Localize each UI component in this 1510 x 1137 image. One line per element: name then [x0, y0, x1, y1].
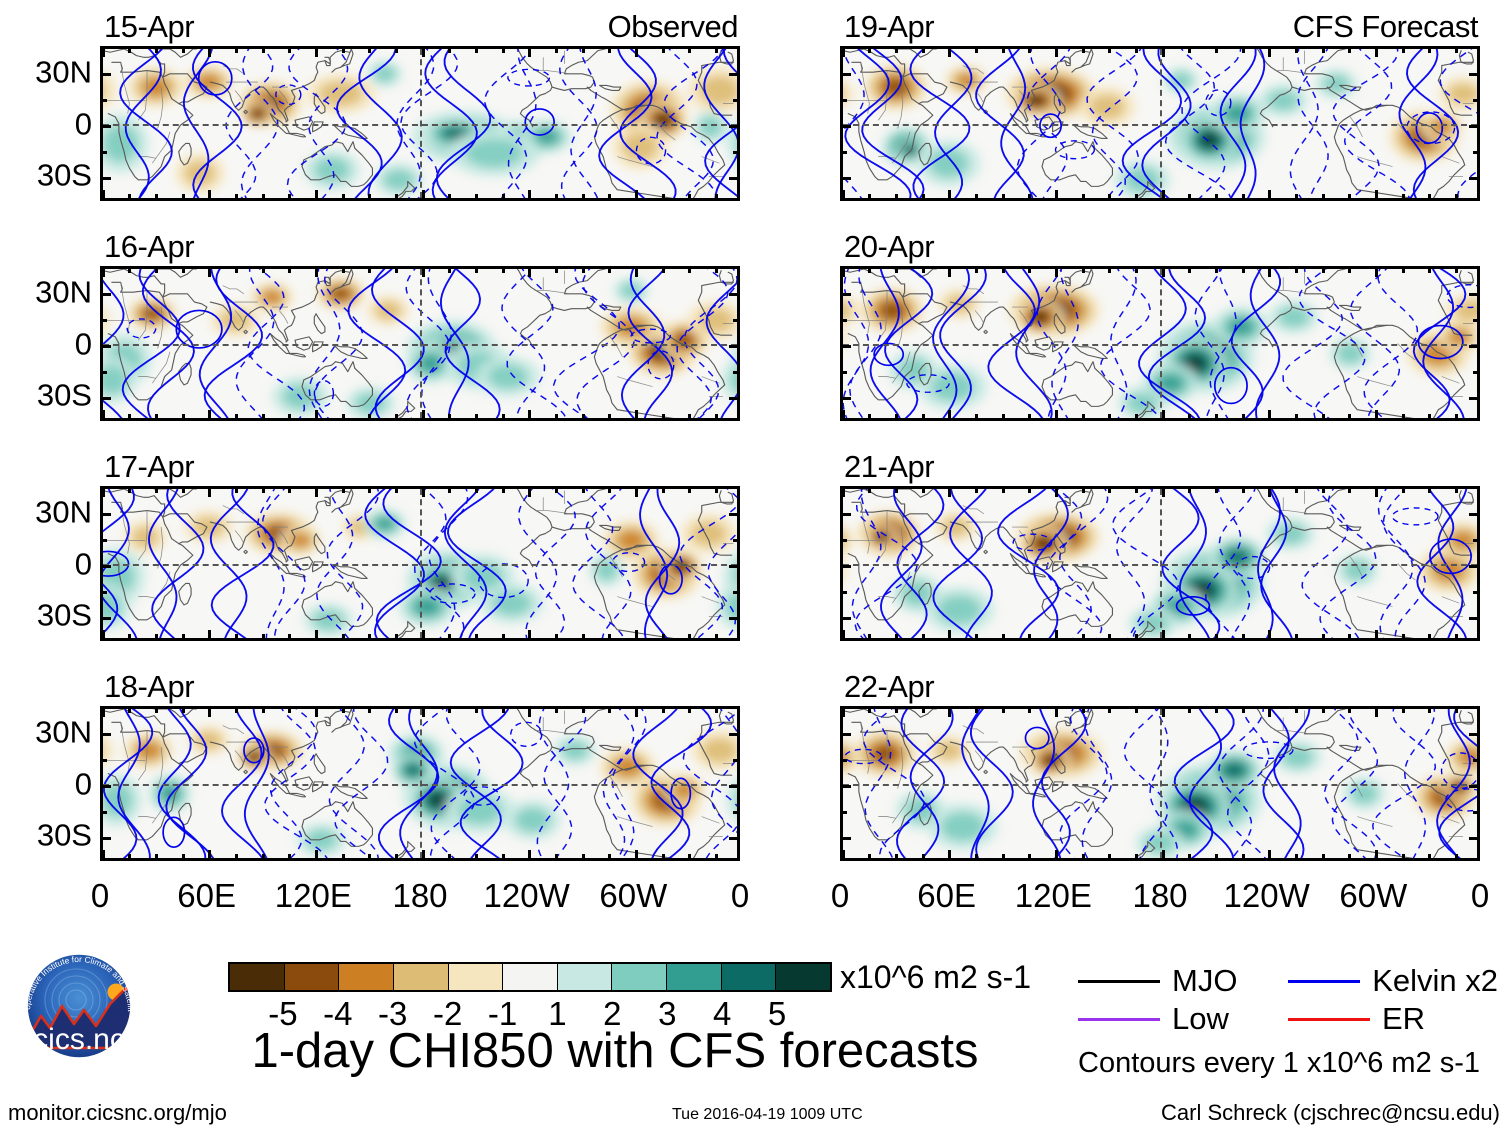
- tick-mark: [1469, 513, 1478, 516]
- tick-mark: [842, 837, 851, 840]
- y-ticks-left: [842, 269, 851, 418]
- tick-mark: [128, 48, 131, 53]
- tick-mark: [1108, 488, 1111, 493]
- tick-mark: [1428, 268, 1431, 273]
- tick-mark: [448, 708, 451, 713]
- tick-mark: [715, 488, 718, 493]
- tick-mark: [733, 99, 738, 102]
- x-axis-tick-label: 180: [1132, 875, 1187, 917]
- tick-mark: [1473, 99, 1478, 102]
- tick-mark: [448, 414, 451, 419]
- tick-mark: [868, 268, 871, 273]
- tick-mark: [688, 488, 691, 493]
- x-axis-tick-label: 60W: [1339, 875, 1407, 917]
- tick-mark: [422, 410, 425, 419]
- tick-mark: [182, 268, 185, 273]
- tick-mark: [342, 194, 345, 199]
- panel-date-label: 19-Apr: [844, 8, 934, 46]
- tick-mark: [729, 125, 738, 128]
- tick-mark: [895, 708, 898, 713]
- tick-mark: [729, 837, 738, 840]
- x-axis-tick-label: 0: [91, 875, 109, 917]
- tick-mark: [733, 371, 738, 374]
- tick-mark: [262, 634, 265, 639]
- x-ticks-bottom: [103, 410, 737, 419]
- tick-mark: [842, 565, 851, 568]
- x-axis-labels: 060E120E180120W60W0: [100, 875, 740, 917]
- panel-grid: 15-AprObserved 30N030S16-Apr 30N030S17-A…: [0, 0, 1510, 920]
- tick-mark: [582, 268, 585, 273]
- tick-mark: [1082, 854, 1085, 859]
- tick-mark: [1428, 634, 1431, 639]
- y-ticks-right: [729, 49, 738, 198]
- tick-mark: [1348, 854, 1351, 859]
- tick-mark: [102, 759, 107, 762]
- tick-mark: [1028, 414, 1031, 419]
- tick-mark: [975, 414, 978, 419]
- tick-mark: [102, 319, 107, 322]
- tick-mark: [729, 177, 738, 180]
- tick-mark: [729, 73, 738, 76]
- tick-mark: [1455, 194, 1458, 199]
- colorbar-segment-2: [339, 964, 394, 990]
- panel-date-label: 18-Apr: [104, 668, 194, 706]
- tick-mark: [1375, 190, 1378, 199]
- tick-mark: [1473, 759, 1478, 762]
- tick-mark: [1268, 48, 1271, 57]
- legend-item-mjo: MJO: [1078, 964, 1288, 998]
- tick-mark: [102, 397, 111, 400]
- tick-mark: [102, 99, 107, 102]
- tick-mark: [235, 634, 238, 639]
- footer-author: Carl Schreck (cjschrec@ncsu.edu): [1161, 1098, 1500, 1128]
- tick-mark: [422, 48, 425, 57]
- tick-mark: [528, 48, 531, 57]
- tick-mark: [1162, 630, 1165, 639]
- x-axis-tick-label: 120W: [1224, 875, 1310, 917]
- tick-mark: [733, 151, 738, 154]
- tick-mark: [1188, 708, 1191, 713]
- map-plot-area: [840, 46, 1480, 201]
- tick-mark: [128, 488, 131, 493]
- dateline-guide-line: [1160, 269, 1162, 418]
- y-axis-tick-label: 0: [75, 328, 92, 359]
- y-axis-labels: 30N030S: [4, 46, 92, 201]
- figure-title: 1-day CHI850 with CFS forecasts: [215, 1022, 1015, 1080]
- tick-mark: [1028, 194, 1031, 199]
- tick-mark: [733, 591, 738, 594]
- colorbar: [228, 962, 832, 992]
- legend-label: ER: [1382, 1002, 1425, 1036]
- y-ticks-left: [842, 49, 851, 198]
- tick-mark: [842, 539, 847, 542]
- tick-mark: [182, 488, 185, 493]
- tick-mark: [868, 854, 871, 859]
- tick-mark: [729, 397, 738, 400]
- tick-mark: [922, 488, 925, 493]
- tick-mark: [662, 268, 665, 273]
- y-ticks-right: [1469, 709, 1478, 858]
- tick-mark: [1455, 268, 1458, 273]
- tick-mark: [1469, 397, 1478, 400]
- tick-mark: [842, 733, 851, 736]
- tick-mark: [1002, 708, 1005, 713]
- tick-mark: [922, 194, 925, 199]
- tick-mark: [1455, 854, 1458, 859]
- tick-mark: [422, 630, 425, 639]
- tick-mark: [102, 565, 111, 568]
- tick-mark: [315, 268, 318, 277]
- tick-mark: [582, 634, 585, 639]
- tick-mark: [502, 634, 505, 639]
- tick-mark: [1268, 410, 1271, 419]
- tick-mark: [1375, 850, 1378, 859]
- tick-mark: [975, 854, 978, 859]
- tick-mark: [208, 268, 211, 277]
- dateline-guide-line: [420, 489, 422, 638]
- tick-mark: [368, 414, 371, 419]
- tick-mark: [1108, 194, 1111, 199]
- x-axis-tick-label: 0: [731, 875, 749, 917]
- panel-date-label: 16-Apr: [104, 228, 194, 266]
- tick-mark: [1082, 268, 1085, 273]
- tick-mark: [1135, 414, 1138, 419]
- map-plot-area: [840, 706, 1480, 861]
- map-panel-16-apr: 16-Apr: [100, 228, 740, 421]
- tick-mark: [315, 190, 318, 199]
- tick-mark: [102, 837, 111, 840]
- y-axis-tick-label: 30N: [35, 276, 92, 307]
- y-ticks-left: [842, 709, 851, 858]
- tick-mark: [182, 194, 185, 199]
- tick-mark: [342, 414, 345, 419]
- tick-mark: [155, 634, 158, 639]
- tick-mark: [1215, 48, 1218, 53]
- tick-mark: [1188, 854, 1191, 859]
- panel-date-label: 22-Apr: [844, 668, 934, 706]
- tick-mark: [842, 151, 847, 154]
- tick-mark: [235, 854, 238, 859]
- tick-mark: [895, 268, 898, 273]
- colorbar-segment-7: [612, 964, 667, 990]
- footer-url[interactable]: monitor.cicsnc.org/mjo: [8, 1098, 227, 1128]
- legend-label: MJO: [1172, 964, 1237, 998]
- tick-mark: [1469, 733, 1478, 736]
- tick-mark: [1108, 854, 1111, 859]
- y-axis-labels: 30N030S: [4, 266, 92, 421]
- logo-wordmark: cics.nc: [33, 1023, 125, 1056]
- legend-label: Kelvin x2: [1372, 964, 1498, 998]
- tick-mark: [342, 854, 345, 859]
- tick-mark: [1135, 194, 1138, 199]
- x-ticks-top: [843, 48, 1477, 57]
- tick-mark: [1135, 854, 1138, 859]
- tick-mark: [555, 634, 558, 639]
- legend-item-kelvin: Kelvin x2: [1288, 964, 1498, 998]
- x-ticks-top: [843, 708, 1477, 717]
- footer: monitor.cicsnc.org/mjo Tue 2016-04-19 10…: [0, 1098, 1510, 1132]
- tick-mark: [528, 708, 531, 717]
- tick-mark: [182, 414, 185, 419]
- tick-mark: [1455, 488, 1458, 493]
- tick-mark: [1082, 488, 1085, 493]
- tick-mark: [662, 708, 665, 713]
- legend-item-er: ER: [1288, 1002, 1498, 1036]
- tick-mark: [948, 630, 951, 639]
- tick-mark: [422, 488, 425, 497]
- tick-mark: [1055, 708, 1058, 717]
- tick-mark: [395, 48, 398, 53]
- panel-date-label: 15-Apr: [104, 8, 194, 46]
- tick-mark: [1469, 785, 1478, 788]
- tick-mark: [1268, 190, 1271, 199]
- tick-mark: [102, 513, 111, 516]
- map-field: [843, 269, 1477, 418]
- tick-mark: [1322, 268, 1325, 273]
- colorbar-segment-5: [503, 964, 558, 990]
- x-axis-tick-label: 60E: [177, 875, 236, 917]
- tick-mark: [288, 854, 291, 859]
- tick-mark: [715, 48, 718, 53]
- tick-mark: [1402, 414, 1405, 419]
- tick-mark: [1108, 634, 1111, 639]
- tick-mark: [975, 48, 978, 53]
- tick-mark: [842, 513, 851, 516]
- y-ticks-left: [102, 269, 111, 418]
- tick-mark: [102, 151, 107, 154]
- mjo-line-swatch: [1078, 980, 1160, 983]
- x-axis-tick-label: 120E: [275, 875, 352, 917]
- dateline-guide-line: [1160, 709, 1162, 858]
- tick-mark: [895, 634, 898, 639]
- tick-mark: [1295, 268, 1298, 273]
- tick-mark: [448, 194, 451, 199]
- tick-mark: [1295, 634, 1298, 639]
- legend-row: Low ER: [1078, 1000, 1498, 1038]
- y-ticks-right: [1469, 489, 1478, 638]
- tick-mark: [1002, 48, 1005, 53]
- tick-mark: [582, 488, 585, 493]
- panel-date-label: 17-Apr: [104, 448, 194, 486]
- tick-mark: [1295, 414, 1298, 419]
- tick-mark: [688, 708, 691, 713]
- tick-mark: [582, 414, 585, 419]
- tick-mark: [1108, 268, 1111, 273]
- y-axis-tick-label: 30S: [37, 600, 92, 631]
- tick-mark: [208, 850, 211, 859]
- tick-mark: [662, 194, 665, 199]
- legend-label: Low: [1172, 1002, 1229, 1036]
- tick-mark: [1455, 708, 1458, 713]
- tick-mark: [555, 194, 558, 199]
- tick-mark: [635, 708, 638, 717]
- x-axis-labels: 060E120E180120W60W0: [840, 875, 1480, 917]
- tick-mark: [729, 565, 738, 568]
- y-axis-tick-label: 30S: [37, 380, 92, 411]
- tick-mark: [1428, 854, 1431, 859]
- tick-mark: [555, 48, 558, 53]
- tick-mark: [1215, 488, 1218, 493]
- tick-mark: [315, 708, 318, 717]
- tick-mark: [475, 488, 478, 493]
- tick-mark: [1402, 708, 1405, 713]
- tick-mark: [395, 854, 398, 859]
- tick-mark: [235, 268, 238, 273]
- tick-mark: [582, 48, 585, 53]
- tick-mark: [608, 634, 611, 639]
- tick-mark: [1455, 48, 1458, 53]
- tick-mark: [975, 488, 978, 493]
- tick-mark: [182, 634, 185, 639]
- tick-mark: [528, 630, 531, 639]
- colorbar-segment-10: [776, 964, 830, 990]
- tick-mark: [1402, 194, 1405, 199]
- tick-mark: [1002, 854, 1005, 859]
- tick-mark: [948, 268, 951, 277]
- tick-mark: [288, 414, 291, 419]
- map-field: [103, 489, 737, 638]
- tick-mark: [315, 850, 318, 859]
- tick-mark: [288, 634, 291, 639]
- cics-nc-logo: Cooperative Institute for Climate and Sa…: [14, 948, 164, 1066]
- y-ticks-right: [729, 709, 738, 858]
- map-field: [843, 489, 1477, 638]
- x-ticks-bottom: [103, 630, 737, 639]
- tick-mark: [1428, 488, 1431, 493]
- y-ticks-left: [102, 489, 111, 638]
- tick-mark: [688, 634, 691, 639]
- tick-mark: [475, 854, 478, 859]
- tick-mark: [262, 854, 265, 859]
- tick-mark: [1469, 177, 1478, 180]
- tick-mark: [1028, 48, 1031, 53]
- tick-mark: [842, 371, 847, 374]
- tick-mark: [635, 190, 638, 199]
- tick-mark: [502, 708, 505, 713]
- x-axis-tick-label: 60E: [917, 875, 976, 917]
- tick-mark: [842, 99, 847, 102]
- x-ticks-top: [843, 488, 1477, 497]
- tick-mark: [635, 268, 638, 277]
- tick-mark: [975, 634, 978, 639]
- tick-mark: [128, 414, 131, 419]
- tick-mark: [155, 194, 158, 199]
- y-ticks-right: [729, 489, 738, 638]
- map-plot-area: [840, 266, 1480, 421]
- tick-mark: [733, 319, 738, 322]
- tick-mark: [608, 414, 611, 419]
- tick-mark: [102, 371, 107, 374]
- tick-mark: [475, 194, 478, 199]
- tick-mark: [448, 48, 451, 53]
- tick-mark: [1348, 48, 1351, 53]
- tick-mark: [922, 854, 925, 859]
- tick-mark: [1473, 591, 1478, 594]
- x-ticks-bottom: [843, 410, 1477, 419]
- y-axis-tick-label: 30N: [35, 56, 92, 87]
- tick-mark: [1242, 854, 1245, 859]
- map-plot-area: [100, 266, 740, 421]
- tick-mark: [395, 194, 398, 199]
- tick-mark: [1055, 410, 1058, 419]
- tick-mark: [729, 617, 738, 620]
- tick-mark: [1322, 488, 1325, 493]
- tick-mark: [102, 345, 111, 348]
- tick-mark: [948, 48, 951, 57]
- tick-mark: [422, 850, 425, 859]
- tick-mark: [555, 854, 558, 859]
- tick-mark: [1295, 488, 1298, 493]
- tick-mark: [729, 513, 738, 516]
- tick-mark: [895, 488, 898, 493]
- tick-mark: [555, 268, 558, 273]
- tick-mark: [315, 48, 318, 57]
- tick-mark: [128, 708, 131, 713]
- tick-mark: [368, 854, 371, 859]
- tick-mark: [422, 190, 425, 199]
- tick-mark: [368, 268, 371, 273]
- tick-mark: [842, 293, 851, 296]
- x-axis-tick-label: 60W: [599, 875, 667, 917]
- tick-mark: [1162, 488, 1165, 497]
- tick-mark: [1162, 48, 1165, 57]
- tick-mark: [868, 414, 871, 419]
- dateline-guide-line: [1160, 489, 1162, 638]
- tick-mark: [715, 414, 718, 419]
- colorbar-segment-9: [722, 964, 777, 990]
- tick-mark: [502, 488, 505, 493]
- tick-mark: [662, 634, 665, 639]
- map-panel-19-apr: 19-AprCFS Forecast: [840, 8, 1480, 201]
- x-ticks-bottom: [843, 850, 1477, 859]
- tick-mark: [1402, 854, 1405, 859]
- map-panel-20-apr: 20-Apr: [840, 228, 1480, 421]
- tick-mark: [342, 708, 345, 713]
- tick-mark: [395, 634, 398, 639]
- tick-mark: [1055, 268, 1058, 277]
- y-ticks-left: [102, 709, 111, 858]
- tick-mark: [368, 488, 371, 493]
- tick-mark: [729, 785, 738, 788]
- tick-mark: [1028, 708, 1031, 713]
- tick-mark: [208, 708, 211, 717]
- legend-item-low: Low: [1078, 1002, 1288, 1036]
- tick-mark: [662, 414, 665, 419]
- x-axis-tick-label: 0: [1471, 875, 1489, 917]
- tick-mark: [208, 630, 211, 639]
- tick-mark: [1402, 634, 1405, 639]
- tick-mark: [975, 194, 978, 199]
- tick-mark: [608, 708, 611, 713]
- tick-mark: [662, 854, 665, 859]
- tick-mark: [155, 268, 158, 273]
- map-panel-15-apr: 15-AprObserved: [100, 8, 740, 201]
- tick-mark: [868, 708, 871, 713]
- tick-mark: [1348, 268, 1351, 273]
- tick-mark: [842, 785, 851, 788]
- tick-mark: [262, 268, 265, 273]
- tick-mark: [1268, 488, 1271, 497]
- tick-mark: [528, 410, 531, 419]
- tick-mark: [368, 48, 371, 53]
- tick-mark: [1135, 48, 1138, 53]
- tick-mark: [368, 194, 371, 199]
- x-axis-tick-label: 0: [831, 875, 849, 917]
- tick-mark: [1215, 634, 1218, 639]
- tick-mark: [448, 268, 451, 273]
- tick-mark: [582, 708, 585, 713]
- tick-mark: [1322, 708, 1325, 713]
